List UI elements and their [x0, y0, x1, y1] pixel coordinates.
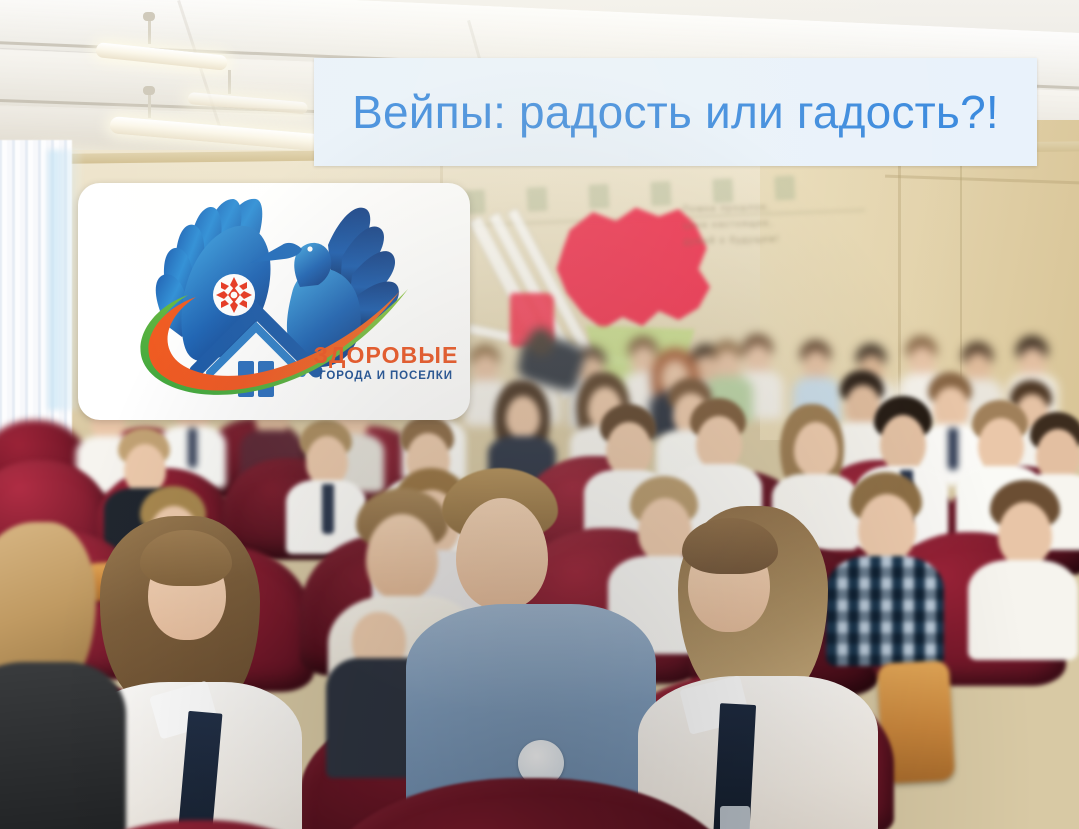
mural-slogan-line-3: думай о будущем!	[683, 229, 843, 249]
logo-word-sub: ГОРОДА И ПОСЕЛКИ	[306, 370, 466, 382]
logo-graphic	[78, 183, 470, 420]
mural-slogan: Помни прошлое, цени настоящее, думай о б…	[682, 197, 843, 249]
lamp-stem	[148, 18, 151, 44]
lamp-stem	[228, 70, 231, 94]
belarusian-ornament-icon	[213, 274, 255, 316]
logo-word-main: ЗДОРОВЫЕ	[306, 343, 466, 367]
tie-emblem	[720, 806, 750, 829]
lamp-stem	[148, 92, 151, 118]
title-text: Вейпы: радость или гадость?!	[352, 85, 999, 139]
logo-card: ЗДОРОВЫЕ ГОРОДА И ПОСЕЛКИ	[78, 183, 470, 420]
lamp-mount	[143, 86, 155, 95]
lamp-mount	[143, 12, 155, 21]
title-banner: Вейпы: радость или гадость?!	[314, 58, 1037, 166]
stork-eye	[307, 246, 312, 251]
healthy-cities-logo-svg	[78, 183, 470, 420]
assembly-photo: Помни прошлое, цени настоящее, думай о б…	[0, 0, 1079, 829]
logo-wordmark: ЗДОРОВЫЕ ГОРОДА И ПОСЕЛКИ	[306, 343, 466, 382]
